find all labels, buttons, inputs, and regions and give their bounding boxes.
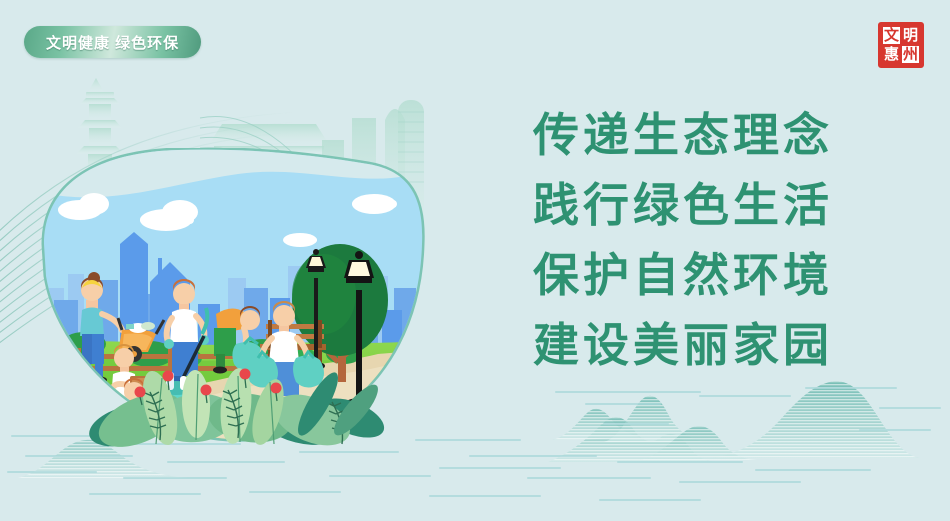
seal-char-1: 文 xyxy=(883,27,900,44)
illustration-blob xyxy=(38,148,428,448)
mountain-small-peaks xyxy=(552,396,706,442)
slogan-badge: 文明健康 绿色环保 xyxy=(24,26,201,58)
slogan-line-1: 传递生态理念 xyxy=(533,100,863,170)
slogan-line-2: 践行绿色生活 xyxy=(533,170,863,240)
slogan-badge-label: 文明健康 绿色环保 xyxy=(46,32,179,53)
wenming-huizhou-seal: 文 明 惠 州 xyxy=(878,22,924,68)
slogan-line-4: 建设美丽家园 xyxy=(533,310,863,380)
seal-char-4: 州 xyxy=(902,46,919,63)
seal-char-3: 惠 xyxy=(883,46,900,63)
seal-char-2: 明 xyxy=(902,27,919,44)
blob-content xyxy=(38,148,428,448)
poster-canvas: 文明健康 绿色环保 文 明 惠 州 传递生态理念 践行绿色生活 保护自然环境 建… xyxy=(0,0,950,521)
mountain-middle xyxy=(548,417,726,462)
slogan-block: 传递生态理念 践行绿色生活 保护自然环境 建设美丽家园 xyxy=(533,100,863,380)
slogan-line-3: 保护自然环境 xyxy=(533,240,863,310)
mountain-right xyxy=(712,381,920,458)
mountain-foothills xyxy=(640,426,760,460)
